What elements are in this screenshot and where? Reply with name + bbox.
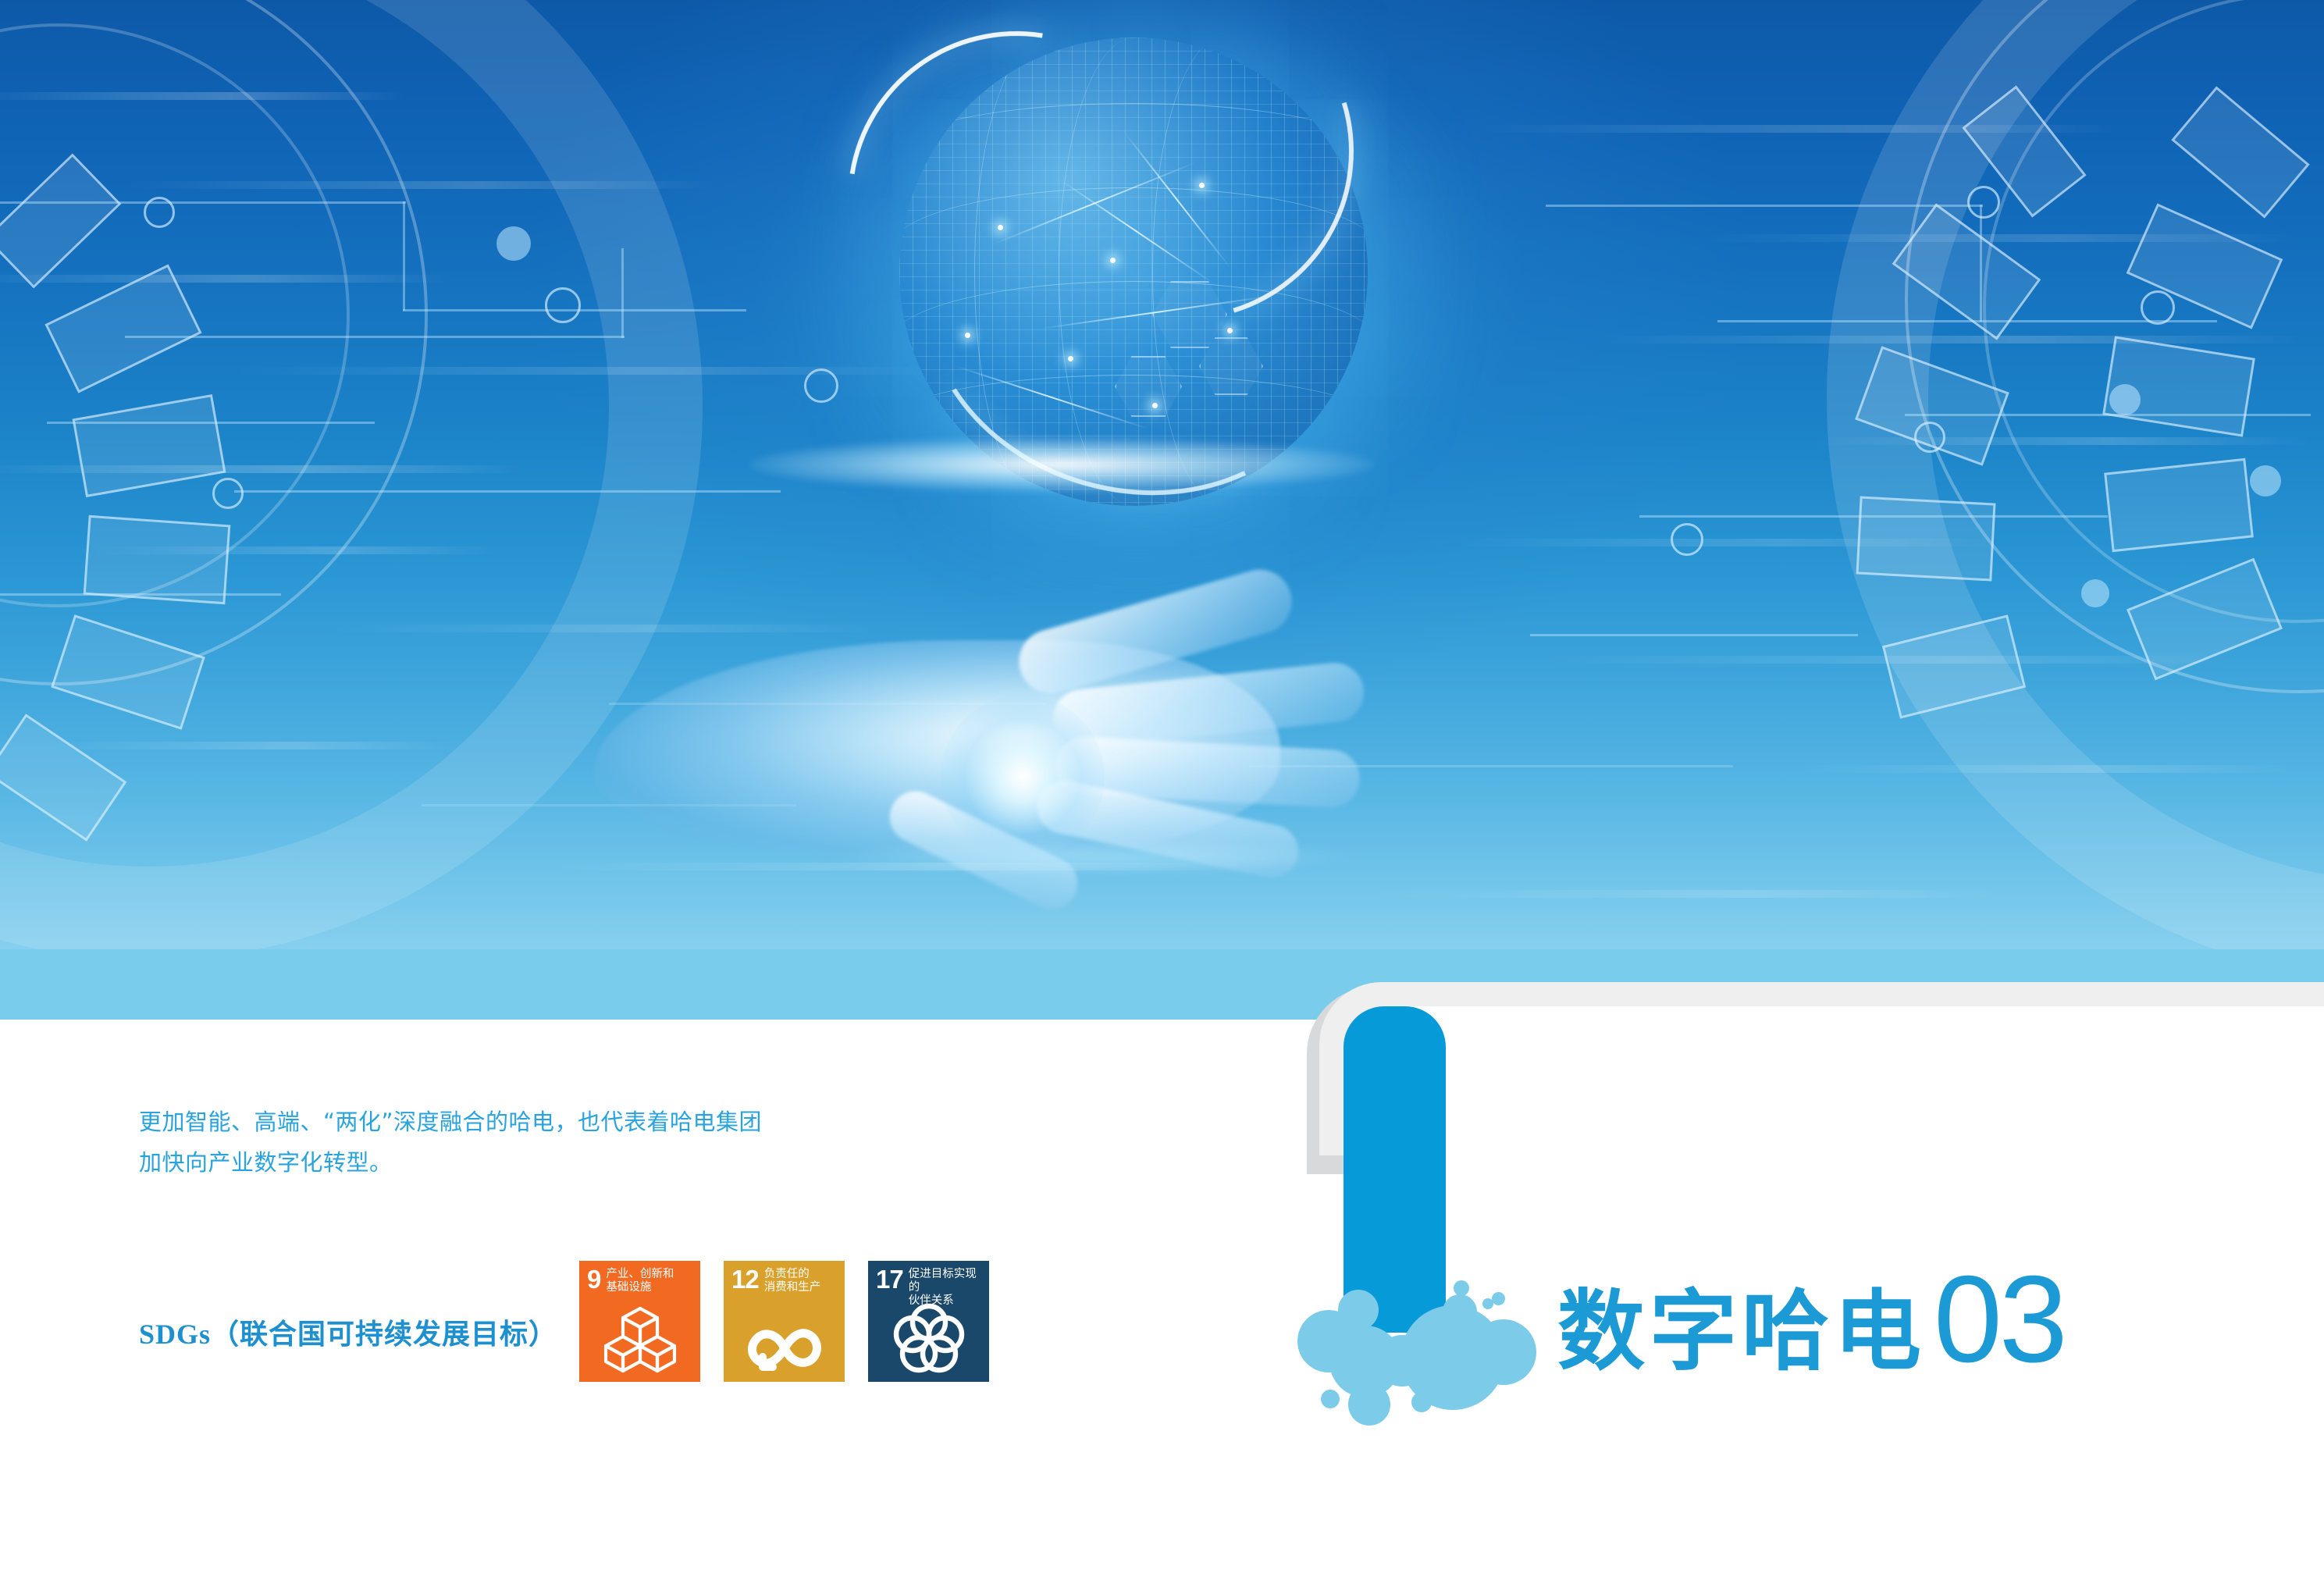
sdg-tile-9[interactable]: 9 产业、创新和 基础设施 bbox=[579, 1261, 700, 1382]
sdg-12-number: 12 bbox=[731, 1268, 759, 1291]
sdg-9-header: 9 产业、创新和 基础设施 bbox=[587, 1268, 694, 1294]
sdg-17-caption-line1: 促进目标实现的 bbox=[909, 1268, 977, 1294]
infinity-arrow-icon bbox=[724, 1322, 845, 1374]
section-title-text: 数字哈电 bbox=[1557, 1288, 1926, 1376]
hand-reflection bbox=[827, 839, 1358, 875]
hero-banner-image bbox=[0, 0, 2324, 949]
five-circles-icon bbox=[868, 1302, 989, 1374]
intro-paragraph: 更加智能、高端、“两化”深度融合的哈电，也代表着哈电集团 加快向产业数字化转型。 bbox=[139, 1102, 920, 1183]
digital-globe-icon bbox=[899, 37, 1368, 506]
sdg-12-caption: 负责任的 消费和生产 bbox=[764, 1268, 821, 1294]
sdg-12-header: 12 负责任的 消费和生产 bbox=[731, 1268, 838, 1294]
blue-accent-bar bbox=[1344, 1006, 1446, 1333]
sdg-tile-17[interactable]: 17 促进目标实现的 伙伴关系 bbox=[868, 1261, 989, 1382]
hand-light-glow bbox=[749, 437, 1374, 492]
sdg-tile-12[interactable]: 12 负责任的 消费和生产 bbox=[724, 1261, 845, 1382]
sdgs-label: SDGs（联合国可持续发展目标） bbox=[139, 1312, 557, 1352]
section-number: 03 bbox=[1934, 1258, 2065, 1381]
intro-line-2: 加快向产业数字化转型。 bbox=[139, 1143, 920, 1184]
sdg-icon-row: 9 产业、创新和 基础设施 bbox=[579, 1261, 989, 1382]
section-title: 数字哈电 03 bbox=[1557, 1258, 2065, 1381]
sdg-12-caption-line2: 消费和生产 bbox=[764, 1281, 821, 1294]
sdg-9-number: 9 bbox=[587, 1268, 600, 1291]
sdg-9-caption-line1: 产业、创新和 bbox=[606, 1268, 674, 1280]
bracket-inner-cutout bbox=[1344, 1006, 2324, 1186]
cubes-icon bbox=[579, 1305, 700, 1374]
page-root: 更加智能、高端、“两化”深度融合的哈电，也代表着哈电集团 加快向产业数字化转型。… bbox=[0, 0, 2324, 1577]
sdg-9-caption-line2: 基础设施 bbox=[606, 1281, 651, 1294]
sdg-12-caption-line1: 负责任的 bbox=[764, 1268, 810, 1280]
intro-line-1: 更加智能、高端、“两化”深度融合的哈电，也代表着哈电集团 bbox=[139, 1102, 920, 1143]
open-hand-image bbox=[546, 609, 1561, 937]
sdg-17-number: 17 bbox=[876, 1268, 903, 1291]
sdg-9-caption: 产业、创新和 基础设施 bbox=[606, 1268, 674, 1294]
